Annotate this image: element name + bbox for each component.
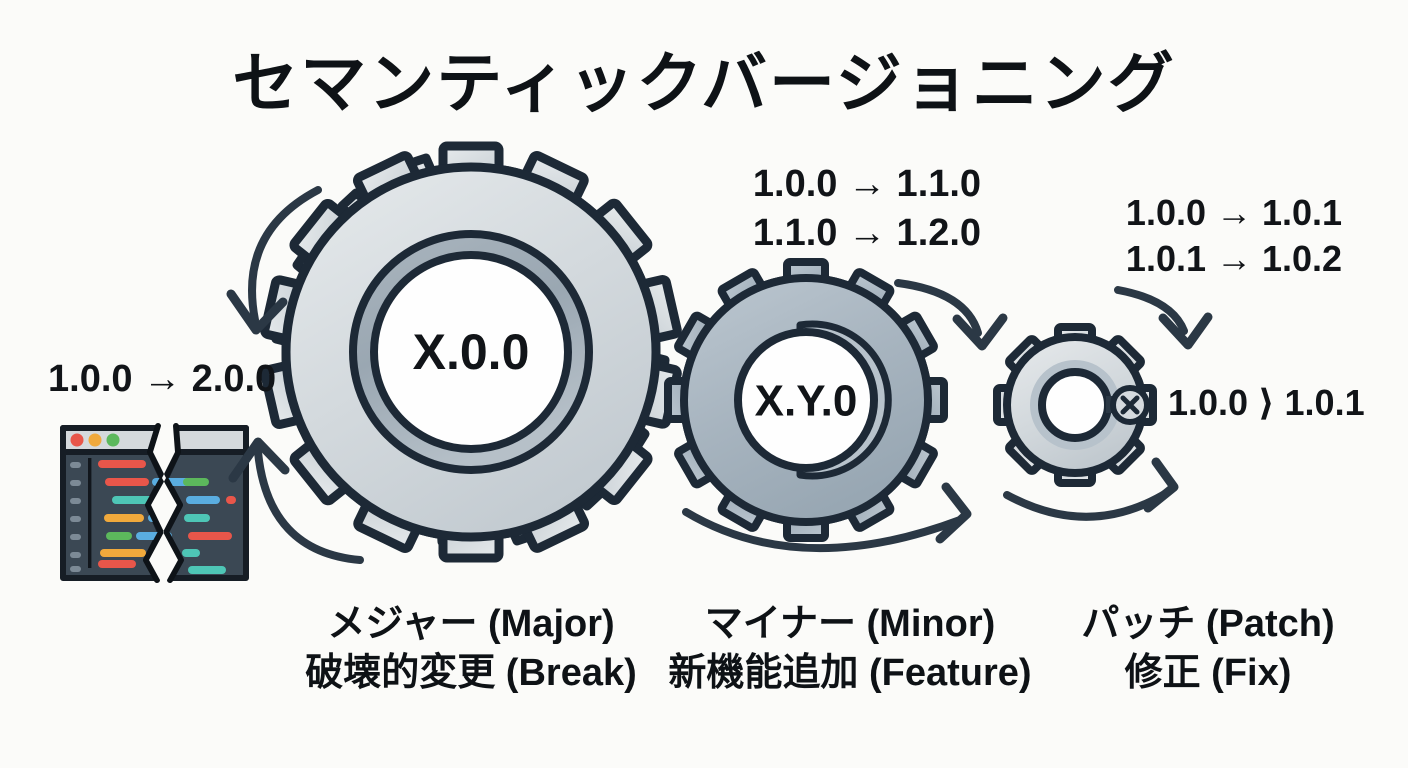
caption-minor-primary: マイナー (Minor)	[645, 600, 1055, 649]
window-dot-amber	[89, 434, 102, 447]
minor-version-line-2: 1.1.0 → 1.2.0	[722, 209, 1012, 258]
window-dot-green	[107, 434, 120, 447]
minor-version-examples: 1.0.0 → 1.1.0 1.1.0 → 1.2.0	[722, 160, 1012, 257]
gear-major: X.0.0	[264, 146, 678, 558]
gear-minor-center-label: X.Y.0	[755, 377, 858, 426]
gear-patch	[997, 327, 1153, 483]
patch-version-line-2: 1.0.1 → 1.0.2	[1098, 236, 1370, 282]
patch-version-line-1: 1.0.0 → 1.0.1	[1098, 190, 1370, 236]
caption-major-primary: メジャー (Major)	[271, 600, 671, 649]
gear-minor: X.Y.0	[668, 262, 944, 538]
caption-patch-primary: パッチ (Patch)	[1043, 600, 1373, 649]
gear-major-center-label: X.0.0	[413, 324, 530, 380]
major-version-example: 1.0.0 → 2.0.0	[48, 358, 276, 401]
caption-minor-secondary: 新機能追加 (Feature)	[645, 649, 1055, 698]
patch-version-inline: 1.0.0 ⟩ 1.0.1	[1168, 382, 1365, 424]
caption-major: メジャー (Major) 破壊的変更 (Break)	[271, 600, 671, 697]
patch-arrow-bottom-right	[1007, 492, 1168, 517]
broken-code-window-icon	[63, 426, 246, 580]
diagram-canvas: セマンティックバージョニング	[0, 0, 1408, 768]
caption-minor: マイナー (Minor) 新機能追加 (Feature)	[645, 600, 1055, 697]
minor-version-line-1: 1.0.0 → 1.1.0	[722, 160, 1012, 209]
window-dot-red	[71, 434, 84, 447]
caption-major-secondary: 破壊的変更 (Break)	[271, 649, 671, 698]
caption-patch-secondary: 修正 (Fix)	[1043, 649, 1373, 698]
caption-patch: パッチ (Patch) 修正 (Fix)	[1043, 600, 1373, 697]
patch-version-examples: 1.0.0 → 1.0.1 1.0.1 → 1.0.2	[1098, 190, 1370, 282]
